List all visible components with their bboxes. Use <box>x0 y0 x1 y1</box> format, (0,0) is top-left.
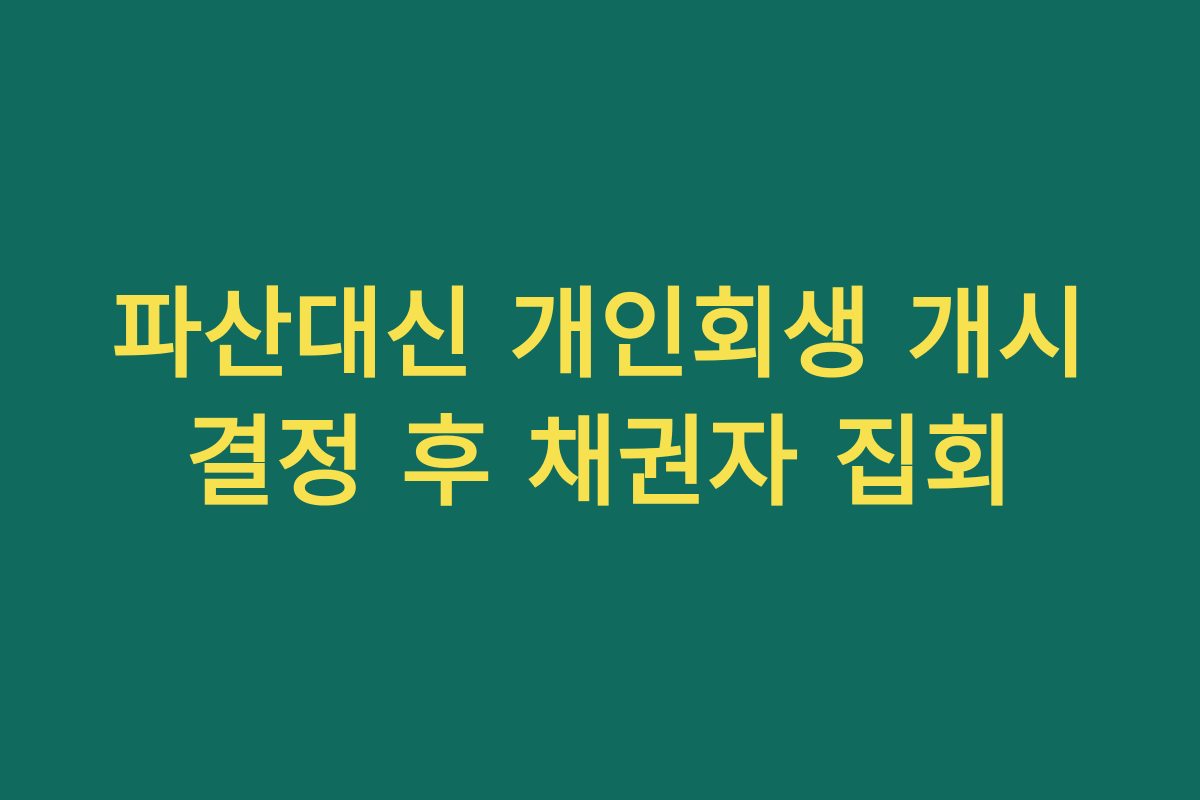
banner-canvas: 파산대신 개인회생 개시 결정 후 채권자 집회 <box>0 0 1200 800</box>
headline-block: 파산대신 개인회생 개시 결정 후 채권자 집회 <box>0 279 1200 520</box>
headline-line-1: 파산대신 개인회생 개시 <box>0 279 1200 393</box>
headline-line-2: 결정 후 채권자 집회 <box>0 407 1200 521</box>
